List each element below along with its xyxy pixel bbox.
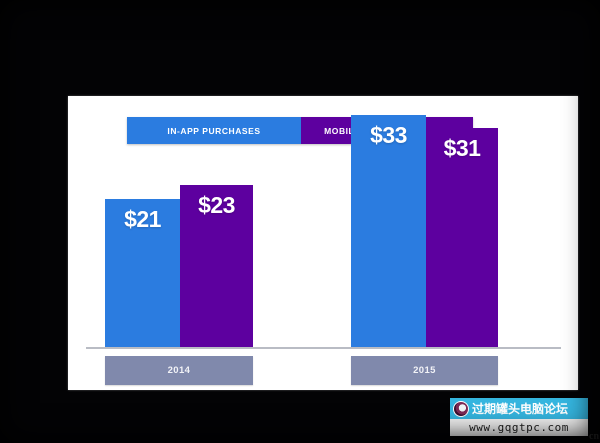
forum-logo-icon: [453, 401, 469, 417]
bar-2014-in-app-purchases[interactable]: $21: [105, 199, 180, 348]
watermark: 过期罐头电脑论坛 www.gqgtpc.com: [450, 398, 588, 436]
x-axis-label-2014: 2014: [105, 356, 253, 385]
watermark-url-bar: www.gqgtpc.com: [450, 419, 588, 436]
bar-2015-mobile-ads[interactable]: $31: [426, 128, 498, 348]
x-axis-label-2015: 2015: [351, 356, 498, 385]
axis-baseline: [86, 347, 561, 349]
bar-value-2015-mobile-ads: $31: [444, 135, 481, 162]
chart-panel: IN-APP PURCHASES MOBILE ADS (EX. SEARCH)…: [68, 96, 578, 390]
slide-screenshot: IN-APP PURCHASES MOBILE ADS (EX. SEARCH)…: [0, 0, 600, 443]
bar-value-2015-in-app-purchases: $33: [370, 122, 407, 149]
watermark-corner-text: cn: [589, 431, 599, 442]
x-axis-label-2014-text: 2014: [168, 365, 191, 376]
watermark-brand-bar: 过期罐头电脑论坛: [450, 398, 588, 419]
bar-2015-in-app-purchases[interactable]: $33: [351, 115, 426, 348]
bar-2014-mobile-ads[interactable]: $23: [180, 185, 253, 348]
watermark-site-name: 过期罐头电脑论坛: [472, 400, 568, 417]
bar-value-2014-mobile-ads: $23: [198, 192, 235, 219]
plot-area: $21 $23 $33 $31 2014 2015: [68, 96, 578, 390]
bar-value-2014-in-app-purchases: $21: [124, 206, 161, 233]
x-axis-label-2015-text: 2015: [413, 365, 436, 376]
watermark-url: www.gqgtpc.com: [469, 421, 569, 434]
